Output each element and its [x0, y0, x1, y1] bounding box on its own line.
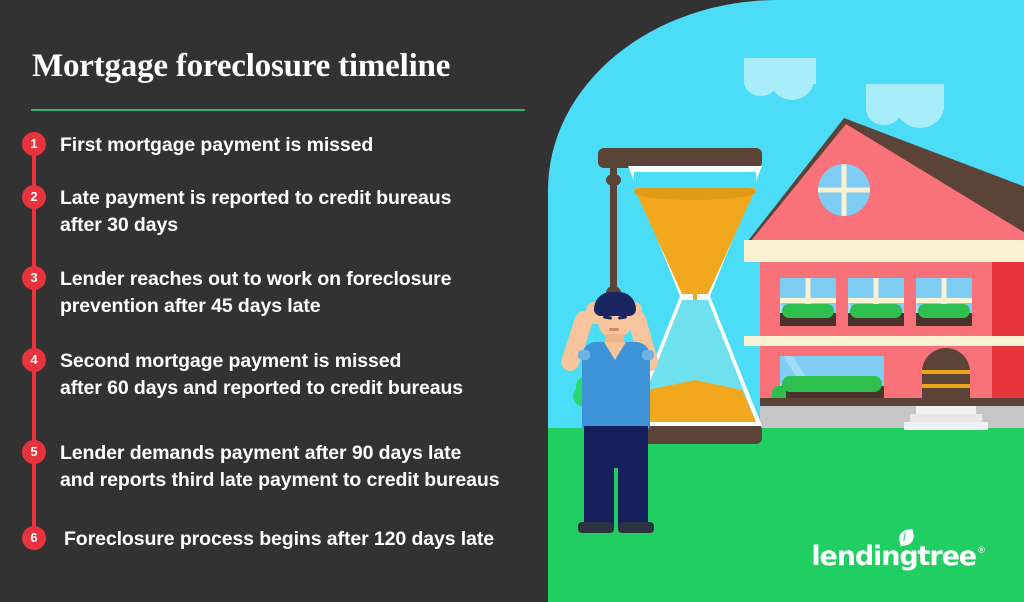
timeline-text-2: Late payment is reported to credit burea…	[60, 185, 540, 239]
person-sleeve	[642, 350, 654, 360]
attic-window	[818, 164, 870, 216]
trademark-symbol: ®	[977, 546, 986, 556]
hourglass-sand-top	[634, 188, 756, 294]
person-shoe	[618, 522, 654, 533]
timeline-line: Foreclosure process begins after 120 day…	[64, 526, 544, 553]
house-window	[916, 278, 972, 326]
foundation-trim	[760, 398, 1024, 406]
front-steps	[910, 414, 982, 422]
title-divider	[31, 109, 525, 111]
logo-wordmark: lendingtree	[811, 543, 976, 570]
timeline-marker-2: 2	[22, 185, 46, 209]
house-window	[780, 278, 836, 326]
house-illustration	[744, 118, 1024, 428]
timeline-line: after 60 days and reported to credit bur…	[60, 375, 540, 402]
timeline-line: Lender reaches out to work on foreclosur…	[60, 266, 540, 293]
page-title: Mortgage foreclosure timeline	[32, 48, 532, 85]
timeline-text-5: Lender demands payment after 90 days lat…	[60, 440, 540, 494]
timeline-text-3: Lender reaches out to work on foreclosur…	[60, 266, 540, 320]
trim-band	[744, 336, 1024, 346]
timeline-text-6: Foreclosure process begins after 120 day…	[64, 526, 544, 553]
timeline-line: Late payment is reported to credit burea…	[60, 185, 540, 212]
timeline-line: Second mortgage payment is missed	[60, 348, 540, 375]
timeline-marker-3: 3	[22, 266, 46, 290]
person-sleeve	[578, 350, 590, 360]
person-mouth	[609, 328, 619, 331]
person-shoe	[578, 522, 614, 533]
timeline-marker-5: 5	[22, 440, 46, 464]
timeline-line: Lender demands payment after 90 days lat…	[60, 440, 540, 467]
timeline-marker-4: 4	[22, 348, 46, 372]
illustration-panel: lendingtree ®	[548, 0, 1024, 602]
lendingtree-logo[interactable]: lendingtree ®	[811, 543, 986, 570]
front-steps	[916, 406, 976, 414]
timeline-marker-6: 6	[22, 526, 46, 550]
timeline-marker-1: 1	[22, 132, 46, 156]
front-steps	[904, 422, 988, 430]
hourglass-top-cap	[598, 148, 762, 168]
cloud-icon	[866, 84, 944, 110]
timeline-line: and reports third late payment to credit…	[60, 467, 540, 494]
timeline-text-1: First mortgage payment is missed	[60, 132, 540, 159]
trim-band	[744, 240, 1024, 262]
person-hair	[594, 292, 636, 316]
person-leg-gap	[614, 468, 618, 528]
stressed-person-illustration	[560, 290, 680, 550]
house-side-wall	[992, 262, 1024, 398]
cloud-icon	[744, 58, 816, 84]
content-panel: Mortgage foreclosure timeline 1 First mo…	[0, 0, 560, 602]
timeline-line: prevention after 45 days late	[60, 293, 540, 320]
timeline-text-4: Second mortgage payment is missed after …	[60, 348, 540, 402]
house-window	[848, 278, 904, 326]
door-band	[922, 384, 970, 388]
hourglass-air-top	[634, 172, 756, 188]
timeline-line: First mortgage payment is missed	[60, 132, 540, 159]
hourglass-post-knob	[606, 174, 621, 186]
timeline-line: after 30 days	[60, 212, 540, 239]
door-band	[922, 370, 970, 374]
house-window	[780, 356, 884, 398]
